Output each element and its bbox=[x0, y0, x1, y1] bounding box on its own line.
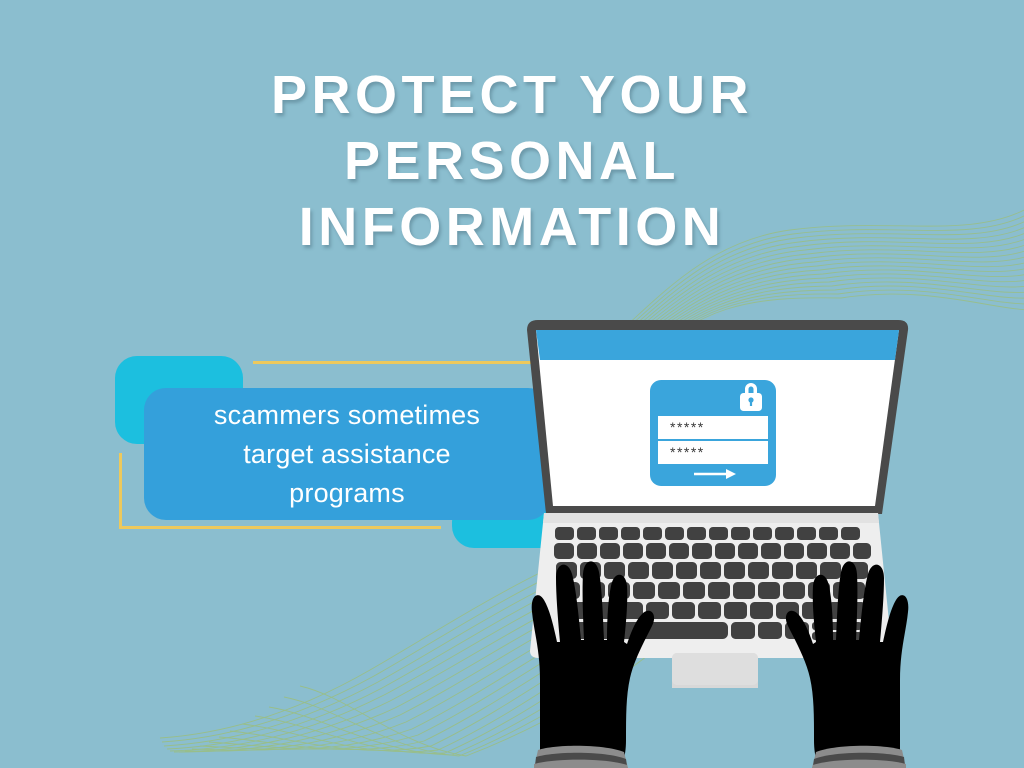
password-value: ***** bbox=[670, 444, 705, 460]
callout-box: scammers sometimes target assistance pro… bbox=[144, 388, 550, 520]
accent-line-bottom bbox=[119, 526, 441, 529]
poster-canvas: PROTECT YOUR PERSONAL INFORMATION scamme… bbox=[0, 0, 1024, 768]
left-hand-silhouette bbox=[532, 561, 654, 768]
striped-cuff bbox=[812, 746, 906, 768]
right-hand-silhouette bbox=[786, 561, 908, 768]
hands-silhouette bbox=[500, 500, 940, 768]
callout-block: scammers sometimes target assistance pro… bbox=[0, 0, 560, 560]
accent-line-top bbox=[253, 361, 538, 364]
username-value: ***** bbox=[670, 419, 705, 435]
callout-text: scammers sometimes target assistance pro… bbox=[198, 396, 496, 513]
login-card: ***** ***** bbox=[648, 378, 778, 488]
accent-line-left bbox=[119, 453, 122, 529]
striped-cuff bbox=[534, 746, 628, 768]
